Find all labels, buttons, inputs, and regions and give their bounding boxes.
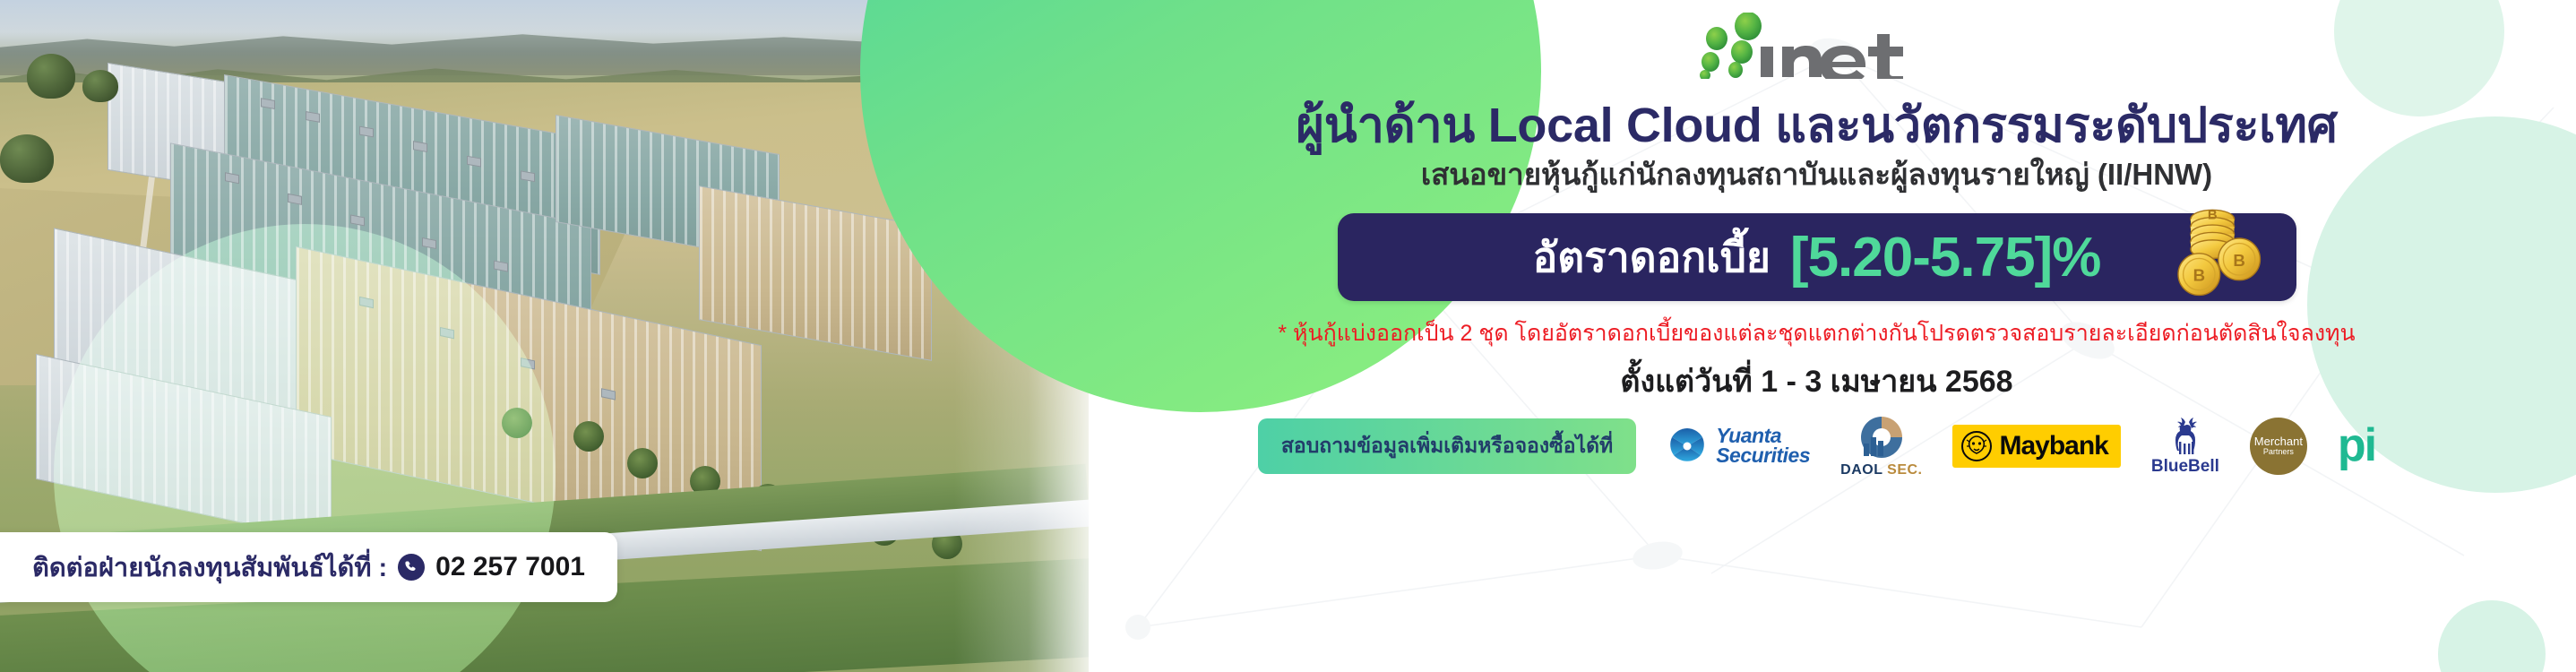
interest-rate-value: [5.20-5.75]% xyxy=(1790,226,2100,289)
photo-palm xyxy=(573,421,604,452)
bluebell-deer-icon xyxy=(2166,417,2205,456)
photo-tree xyxy=(27,54,75,99)
yuanta-star-icon xyxy=(1667,426,1708,467)
svg-text:B: B xyxy=(2233,251,2244,270)
merchant-line2: Partners xyxy=(2263,448,2294,456)
partner-logo-merchant-partners[interactable]: Merchant Partners xyxy=(2250,418,2307,475)
disclaimer-text: * หุ้นกู้แบ่งออกเป็น 2 ชุด โดยอัตราดอกเบ… xyxy=(1057,315,2576,351)
contact-phone-number: 02 257 7001 xyxy=(435,552,585,582)
inet-dots-logo-icon xyxy=(1678,13,1956,79)
interest-rate-label: อัตราดอกเบี้ย xyxy=(1533,225,1770,290)
photo-tree xyxy=(0,134,54,183)
inet-logo xyxy=(1678,13,1956,79)
partner-logo-pi[interactable]: pi xyxy=(2338,427,2375,465)
partner-logo-yuanta[interactable]: Yuanta Securities xyxy=(1667,426,1810,467)
photo-tree xyxy=(82,70,118,102)
gold-coin-stack-icon: B B B xyxy=(2166,201,2266,301)
svg-text:B: B xyxy=(2193,266,2204,285)
daol-wordmark: DAOL SEC. xyxy=(1840,462,1922,478)
content-column: ผู้นำด้าน Local Cloud และนวัตกรรมระดับปร… xyxy=(1057,0,2576,672)
daol-pie-chart-icon xyxy=(1857,414,1906,461)
contact-label: ติดต่อฝ่ายนักลงทุนสัมพันธ์ได้ที่ : xyxy=(32,547,387,588)
bluebell-wordmark: BlueBell xyxy=(2151,457,2219,477)
partner-logo-daol[interactable]: DAOL SEC. xyxy=(1840,414,1922,478)
partner-logo-maybank[interactable]: Maybank xyxy=(1952,425,2120,468)
svg-text:B: B xyxy=(2207,208,2217,223)
offer-period-text: ตั้งแต่วันที่ 1 - 3 เมษายน 2568 xyxy=(1057,357,2576,405)
photo-palm xyxy=(627,448,658,478)
phone-icon xyxy=(398,554,425,581)
investor-relations-contact-box: ติดต่อฝ่ายนักลงทุนสัมพันธ์ได้ที่ : 02 25… xyxy=(0,532,617,602)
partners-row: สอบถามข้อมูลเพิ่มเติมหรือจองซื้อได้ที่ xyxy=(1057,414,2576,478)
maybank-tiger-icon xyxy=(1961,431,1992,461)
interest-rate-box: อัตราดอกเบี้ย [5.20-5.75]% xyxy=(1338,213,2296,301)
yuanta-wordmark: Yuanta Securities xyxy=(1716,426,1810,466)
maybank-wordmark: Maybank xyxy=(1999,431,2107,461)
page-subtitle: เสนอขายหุ้นกู้แก่นักลงทุนสถาบันและผู้ลงท… xyxy=(1057,151,2576,198)
cta-inquire-button[interactable]: สอบถามข้อมูลเพิ่มเติมหรือจองซื้อได้ที่ xyxy=(1258,418,1636,474)
pi-wordmark-icon: pi xyxy=(2338,427,2375,465)
merchant-circle-icon: Merchant Partners xyxy=(2250,418,2307,475)
inet-promo-banner: ผู้นำด้าน Local Cloud และนวัตกรรมระดับปร… xyxy=(0,0,2576,672)
partner-logo-bluebell[interactable]: BlueBell xyxy=(2151,417,2219,477)
merchant-line1: Merchant xyxy=(2254,435,2303,448)
